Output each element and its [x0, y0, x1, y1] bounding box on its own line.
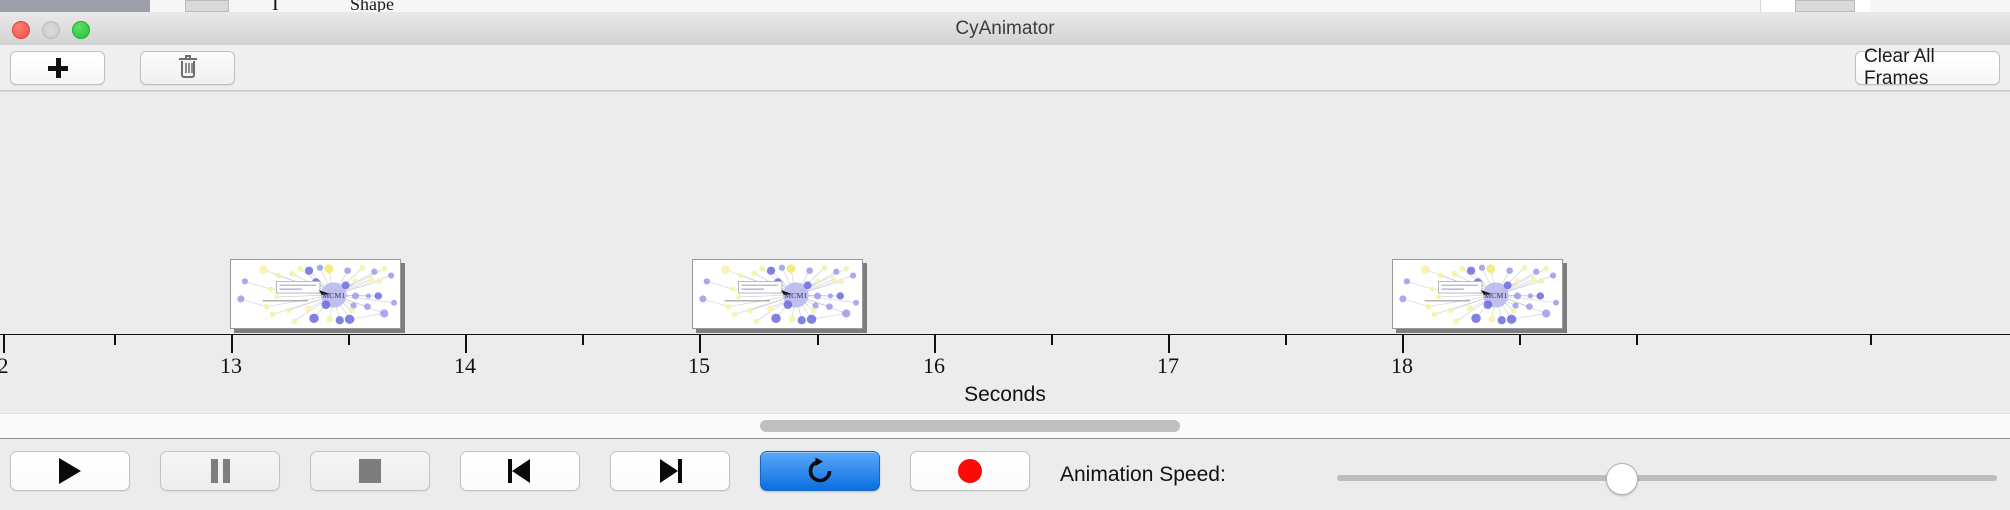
loop-button[interactable]	[760, 451, 880, 491]
axis-tick-minor	[817, 335, 819, 345]
axis-tick-minor	[1051, 335, 1053, 345]
frame-thumbnail-image: MCM1	[692, 259, 863, 329]
axis-tick-minor	[1636, 335, 1638, 345]
background-toolbar-segment	[240, 0, 301, 12]
network-graph-preview: MCM1	[231, 260, 400, 328]
axis-tick-major	[3, 335, 5, 353]
timeline-axis	[0, 334, 2010, 335]
timeline-frame-thumbnail[interactable]: MCM1	[1392, 259, 1565, 331]
axis-tick-major	[1402, 335, 1404, 353]
record-icon	[958, 459, 982, 483]
axis-tick-label: 13	[220, 353, 242, 379]
animation-speed-slider-thumb[interactable]	[1606, 463, 1638, 495]
axis-tick-label: 16	[923, 353, 945, 379]
axis-tick-label: 18	[1391, 353, 1413, 379]
stop-button[interactable]	[310, 451, 430, 491]
axis-tick-major	[465, 335, 467, 353]
axis-tick-minor	[1285, 335, 1287, 345]
axis-tick-minor	[114, 335, 116, 345]
axis-title: Seconds	[0, 383, 2010, 407]
skip-to-start-button[interactable]	[460, 451, 580, 491]
axis-tick-label: 2	[0, 353, 9, 379]
timeline-frame-thumbnail[interactable]: MCM1	[692, 259, 865, 331]
axis-tick-label: 17	[1157, 353, 1179, 379]
axis-tick-label: 14	[454, 353, 476, 379]
timeline-frame-thumbnail[interactable]: MCM1	[230, 259, 403, 331]
axis-tick-major	[699, 335, 701, 353]
axis-tick-minor	[348, 335, 350, 345]
frame-thumbnail-image: MCM1	[1392, 259, 1563, 329]
animation-speed-slider[interactable]	[1337, 475, 1997, 481]
background-toolbar-segment	[1090, 0, 1471, 12]
background-toolbar-segment	[1470, 0, 1761, 12]
background-tab-square	[185, 0, 229, 12]
axis-tick-major	[934, 335, 936, 353]
plus-icon	[48, 58, 68, 78]
trash-icon	[179, 58, 197, 79]
playback-bar: Animation Speed:	[0, 439, 2010, 510]
background-toolbar-segment	[1870, 0, 2010, 12]
svg-text:MCM1: MCM1	[322, 291, 345, 300]
stop-icon	[359, 459, 381, 483]
background-window-peek: I T Shape	[0, 0, 2010, 12]
skip-to-end-button[interactable]	[610, 451, 730, 491]
pause-icon	[211, 459, 230, 483]
network-graph-preview: MCM1	[1393, 260, 1562, 328]
timeline-panel[interactable]: MCM1 MCM1 MCM1 2131415161718 Seconds	[0, 91, 2010, 414]
loop-icon	[805, 456, 835, 486]
axis-tick-minor	[1870, 335, 1872, 345]
record-button[interactable]	[910, 451, 1030, 491]
animation-speed-label: Animation Speed:	[1060, 463, 1226, 487]
axis-tick-label: 15	[688, 353, 710, 379]
axis-tick-major	[1168, 335, 1170, 353]
play-button[interactable]	[10, 451, 130, 491]
background-toolbar-segment	[480, 0, 691, 12]
pause-button[interactable]	[160, 451, 280, 491]
window-titlebar: CyAnimator	[0, 12, 2010, 46]
axis-tick-major	[231, 335, 233, 353]
delete-frame-button[interactable]	[140, 51, 235, 85]
skip-to-end-icon	[658, 459, 682, 483]
network-graph-preview: MCM1	[693, 260, 862, 328]
svg-text:MCM1: MCM1	[784, 291, 807, 300]
play-icon	[59, 458, 81, 484]
background-tab-square	[1795, 0, 1855, 12]
skip-to-start-icon	[508, 459, 532, 483]
clear-all-frames-button[interactable]: Clear All Frames	[1855, 51, 2000, 85]
frame-thumbnail-image: MCM1	[230, 259, 401, 329]
timeline-top-rule	[0, 91, 2010, 92]
axis-tick-minor	[582, 335, 584, 345]
window-title: CyAnimator	[0, 12, 2010, 45]
axis-tick-minor	[1519, 335, 1521, 345]
svg-text:MCM1: MCM1	[1484, 291, 1507, 300]
add-frame-button[interactable]	[10, 51, 105, 85]
background-window-titlebar	[0, 0, 150, 12]
toolbar: Clear All Frames	[0, 45, 2010, 91]
timeline-scrollbar-thumb[interactable]	[760, 420, 1180, 432]
timeline-scrollbar[interactable]	[0, 413, 2010, 439]
background-toolbar-segment	[690, 0, 1091, 12]
